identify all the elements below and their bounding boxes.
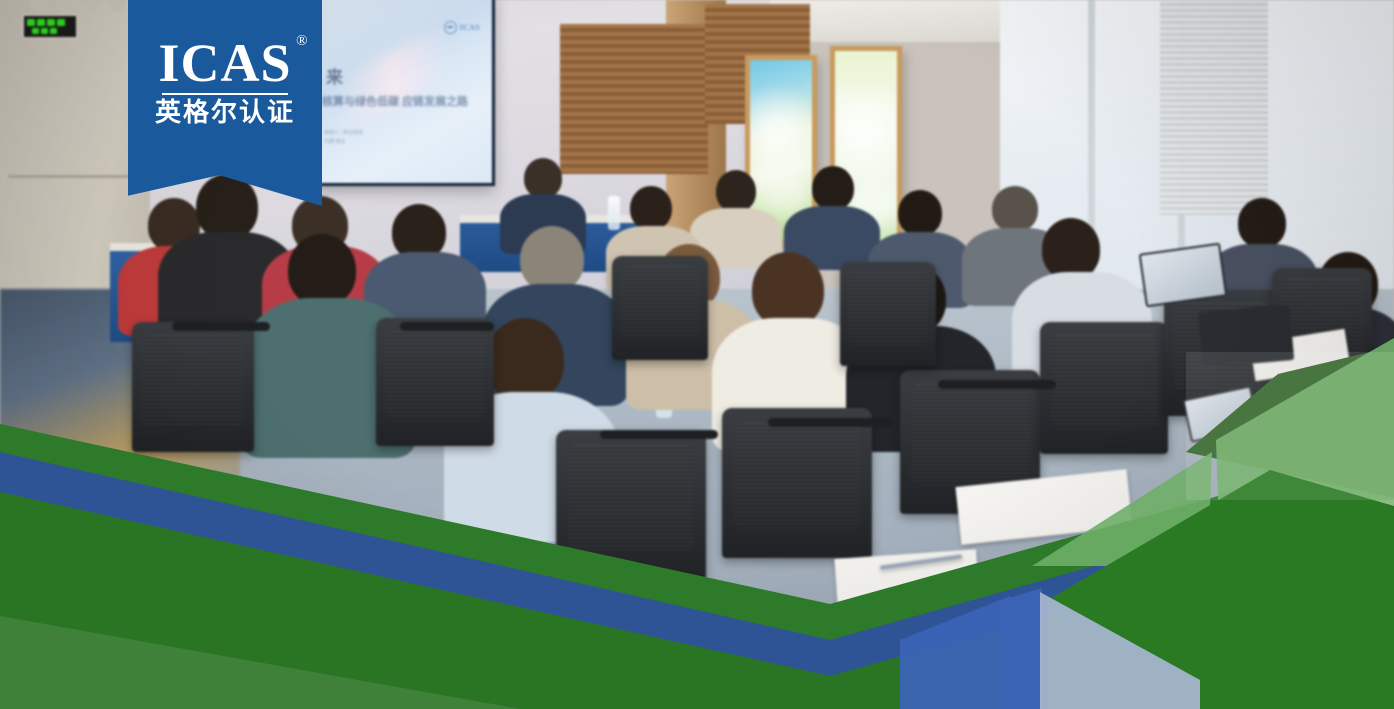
- slide-title: 来: [326, 69, 343, 86]
- slide-logo-mark-icon: [444, 21, 457, 34]
- logo-divider: [162, 93, 288, 95]
- office-chair: [722, 408, 872, 558]
- chair-armrest: [938, 380, 1056, 389]
- office-chair: [132, 322, 254, 452]
- office-chair: [1040, 322, 1168, 454]
- chair-armrest: [400, 322, 494, 331]
- icas-wordmark-text: ICAS: [158, 33, 291, 93]
- chair-armrest: [768, 418, 894, 427]
- tablet-device: [1139, 243, 1228, 308]
- projector-screen: ICAS 来 核算与绿色低碳 应链发展之路 演讲人 / 单位信息 日期 地点: [313, 0, 495, 186]
- slide-footnote: 演讲人 / 单位信息 日期 地点: [324, 129, 363, 146]
- office-chair: [612, 256, 708, 360]
- chair-armrest: [600, 430, 718, 439]
- office-chair: [556, 430, 706, 580]
- slide-subtitle: 核算与绿色低碳 应链发展之路: [322, 97, 468, 108]
- slide-logo-text: ICAS: [460, 24, 480, 32]
- laptop: [1198, 304, 1295, 368]
- chair-armrest: [172, 322, 270, 331]
- banner-canvas: ICAS 来 核算与绿色低碳 应链发展之路 演讲人 / 单位信息 日期 地点: [0, 0, 1394, 709]
- icas-logo-block: ICAS ® 英格尔认证: [128, 0, 322, 206]
- office-chair: [840, 262, 936, 366]
- registered-trademark-icon: ®: [296, 34, 308, 49]
- office-chair: [376, 318, 494, 446]
- water-bottle: [608, 196, 620, 230]
- slide-logo: ICAS: [444, 21, 480, 34]
- emergency-exit-sign: [22, 14, 78, 39]
- wooden-blinds: [560, 24, 708, 174]
- icas-chinese-name: 英格尔认证: [128, 99, 322, 125]
- icas-wordmark: ICAS ®: [158, 36, 291, 90]
- window-blinds: [1160, 0, 1275, 215]
